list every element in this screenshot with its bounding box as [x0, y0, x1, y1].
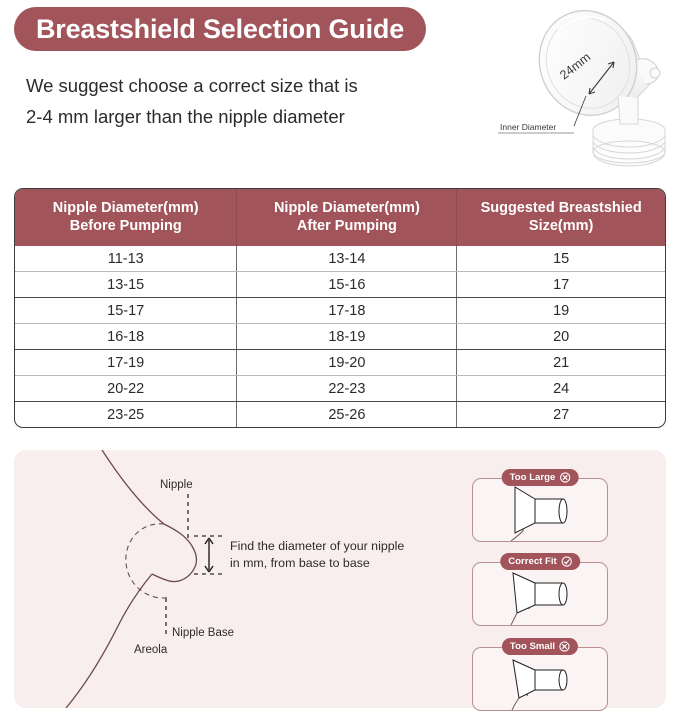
cell-before-pumping: 11-13: [15, 246, 237, 272]
header-line-2: Size(mm): [461, 217, 661, 235]
table-row: 20-22 22-23 24: [15, 376, 665, 402]
cell-suggested-size: 15: [457, 246, 665, 272]
page-title-banner: Breastshield Selection Guide: [14, 7, 426, 51]
header-line-1: Suggested Breastshied: [461, 199, 661, 217]
label-nipple: Nipple: [160, 479, 193, 491]
measurement-note: Find the diameter of your nipple in mm, …: [230, 538, 446, 572]
cell-after-pumping: 15-16: [237, 272, 457, 298]
cell-after-pumping: 22-23: [237, 376, 457, 402]
table-row: 17-19 19-20 21: [15, 350, 665, 376]
size-table-head: Nipple Diameter(mm) Before Pumping Nippl…: [15, 189, 665, 246]
size-table-grid: Nipple Diameter(mm) Before Pumping Nippl…: [15, 189, 665, 427]
table-row: 15-17 17-18 19: [15, 298, 665, 324]
cell-after-pumping: 19-20: [237, 350, 457, 376]
size-table: Nipple Diameter(mm) Before Pumping Nippl…: [14, 188, 666, 428]
breast-outline-drawing: Nipple Nipple Base Areola: [14, 450, 466, 708]
cell-suggested-size: 27: [457, 402, 665, 428]
column-header-after-pumping: Nipple Diameter(mm) After Pumping: [237, 189, 457, 246]
cell-suggested-size: 19: [457, 298, 665, 324]
cell-before-pumping: 23-25: [15, 402, 237, 428]
size-table-body: 11-13 13-14 15 13-15 15-16 17 15-17 17-1…: [15, 246, 665, 427]
table-row: 16-18 18-19 20: [15, 324, 665, 350]
cell-suggested-size: 24: [457, 376, 665, 402]
label-nipple-base: Nipple Base: [172, 627, 234, 639]
column-header-suggested-size: Suggested Breastshied Size(mm): [457, 189, 665, 246]
fit-illustration-too-large: [473, 479, 607, 541]
cell-before-pumping: 16-18: [15, 324, 237, 350]
measure-arrow: [205, 538, 213, 572]
fit-card-correct-fit: Correct Fit: [472, 562, 608, 626]
label-areola: Areola: [134, 644, 168, 656]
intro-line-2: 2-4 mm larger than the nipple diameter: [26, 101, 456, 132]
header-line-2: After Pumping: [241, 217, 452, 235]
fit-illustration-too-small: [473, 648, 607, 710]
page-title: Breastshield Selection Guide: [36, 16, 404, 43]
cell-suggested-size: 21: [457, 350, 665, 376]
cell-after-pumping: 17-18: [237, 298, 457, 324]
intro-text: We suggest choose a correct size that is…: [26, 70, 456, 132]
cell-after-pumping: 18-19: [237, 324, 457, 350]
measurement-note-line-1: Find the diameter of your nipple: [230, 538, 446, 555]
intro-line-1: We suggest choose a correct size that is: [26, 70, 456, 101]
cell-after-pumping: 25-26: [237, 402, 457, 428]
fit-card-too-large: Too Large: [472, 478, 608, 542]
table-row: 23-25 25-26 27: [15, 402, 665, 428]
breastshield-illustration: 24mm Inner Diameter: [486, 0, 679, 180]
measurement-note-line-2: in mm, from base to base: [230, 555, 446, 572]
header-line-1: Nipple Diameter(mm): [241, 199, 452, 217]
table-header-row: Nipple Diameter(mm) Before Pumping Nippl…: [15, 189, 665, 246]
nipple-measurement-diagram: Nipple Nipple Base Areola: [14, 450, 466, 708]
fit-card-too-small: Too Small: [472, 647, 608, 711]
cell-before-pumping: 17-19: [15, 350, 237, 376]
breastshield-drawing: 24mm Inner Diameter: [486, 0, 679, 180]
cell-after-pumping: 13-14: [237, 246, 457, 272]
table-row: 13-15 15-16 17: [15, 272, 665, 298]
fit-illustration-correct-fit: [473, 563, 607, 625]
cell-suggested-size: 20: [457, 324, 665, 350]
header-line-1: Nipple Diameter(mm): [19, 199, 232, 217]
cell-before-pumping: 13-15: [15, 272, 237, 298]
column-header-before-pumping: Nipple Diameter(mm) Before Pumping: [15, 189, 237, 246]
inner-diameter-caption: Inner Diameter: [500, 122, 556, 132]
header-line-2: Before Pumping: [19, 217, 232, 235]
table-row: 11-13 13-14 15: [15, 246, 665, 272]
cell-before-pumping: 20-22: [15, 376, 237, 402]
cell-suggested-size: 17: [457, 272, 665, 298]
cell-before-pumping: 15-17: [15, 298, 237, 324]
